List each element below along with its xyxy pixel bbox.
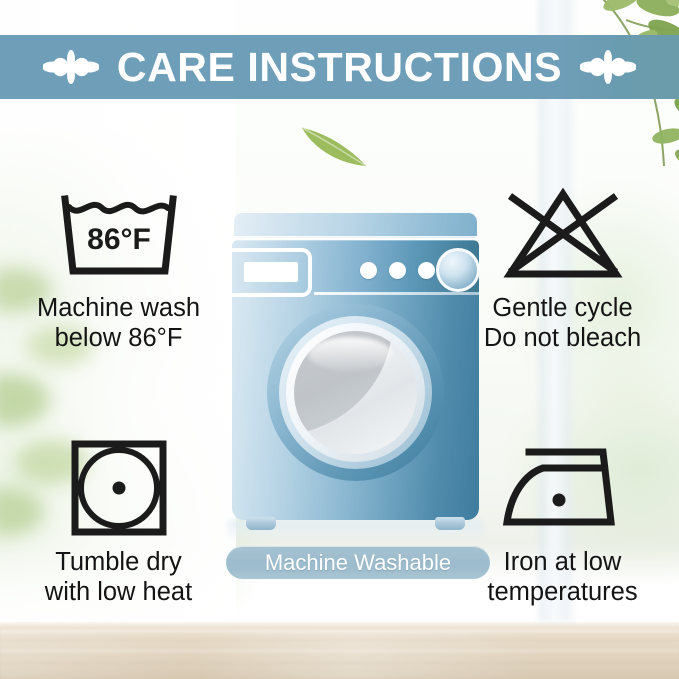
fleur-de-lis-icon [580,46,636,88]
machine-top-lid [234,212,477,238]
care-symbol-machine-wash: 86°F Machine wash below 86°F [11,182,226,354]
machine-lid-shadow [234,236,477,241]
tabletop-grain [0,630,679,679]
machine-washable-badge: Machine Washable [226,546,490,579]
machine-glass-highlight [308,337,392,371]
page-title: CARE INSTRUCTIONS [117,47,562,88]
machine-button-3[interactable] [418,262,435,279]
care-symbol-label-machine-wash: Machine wash below 86°F [37,294,200,354]
care-symbol-label-do-not-bleach: Gentle cycle Do not bleach [484,294,641,354]
machine-foot-left [246,517,276,530]
do-not-bleach-triangle-icon-wrap [492,182,634,286]
iron-low-temperature-icon [499,442,627,534]
care-symbol-label-tumble-dry: Tumble dry with low heat [45,548,192,608]
care-instructions-infographic: CARE INSTRUCTIONS 86°F Machine wash belo… [0,0,679,679]
wash-temperature-value: 86°F [87,223,151,256]
care-symbol-iron: Iron at low temperatures [455,436,670,608]
iron-low-temperature-icon-wrap [499,436,627,540]
care-symbol-tumble-dry: Tumble dry with low heat [11,436,226,608]
machine-button-2[interactable] [389,262,406,279]
machine-washable-badge-label: Machine Washable [265,552,451,574]
green-leaf-icon [298,122,370,170]
machine-control-knob[interactable] [436,248,480,292]
tumble-dry-low-icon-wrap [67,436,171,540]
wash-tub-icon-wrap: 86°F [49,182,189,286]
header-banner: CARE INSTRUCTIONS [0,35,679,99]
machine-door-glass [294,331,417,454]
machine-display-screen [244,262,298,282]
machine-foot-right [435,517,465,530]
care-symbol-label-iron: Iron at low temperatures [487,548,637,608]
tumble-dry-low-icon [67,438,171,538]
do-not-bleach-triangle-icon [492,184,634,284]
machine-button-1[interactable] [360,262,377,279]
fleur-de-lis-icon [43,46,99,88]
wash-tub-icon: 86°F [49,185,189,283]
green-leaf-svg [298,122,370,170]
machine-panel-separator [314,292,479,295]
care-symbol-do-not-bleach: Gentle cycle Do not bleach [455,182,670,354]
washing-machine-illustration [232,212,479,524]
